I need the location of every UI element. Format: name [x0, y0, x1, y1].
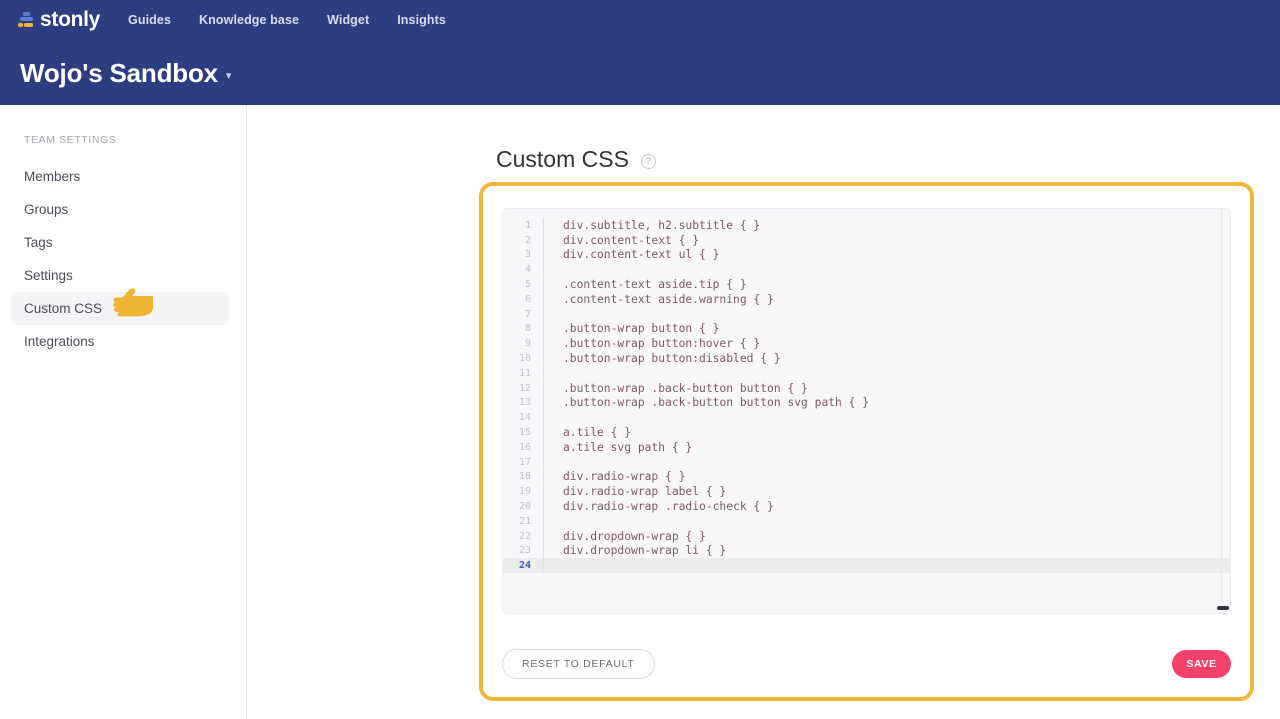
- stonly-logo-icon: [18, 12, 35, 29]
- code-line[interactable]: 2div.content-text { }: [503, 233, 1230, 248]
- page-title: Custom CSS: [496, 146, 629, 173]
- sidebar-item-members[interactable]: Members: [11, 160, 229, 193]
- code-line[interactable]: 19div.radio-wrap label { }: [503, 484, 1230, 499]
- line-number: 6: [503, 294, 543, 305]
- code-line[interactable]: 10.button-wrap button:disabled { }: [503, 351, 1230, 366]
- sidebar-item-custom-css[interactable]: Custom CSS: [11, 292, 229, 325]
- code-line[interactable]: 15a.tile { }: [503, 425, 1230, 440]
- save-button[interactable]: SAVE: [1172, 650, 1231, 678]
- code-line[interactable]: 4: [503, 262, 1230, 277]
- brand-name: stonly: [40, 8, 100, 32]
- line-number: 24: [503, 560, 543, 571]
- sidebar-item-settings[interactable]: Settings: [11, 259, 229, 292]
- line-number: 3: [503, 249, 543, 260]
- code-line-text: div.radio-wrap .radio-check { }: [544, 500, 774, 513]
- code-line[interactable]: 6.content-text aside.warning { }: [503, 292, 1230, 307]
- sidebar-item-label: Tags: [24, 235, 53, 250]
- nav-link-knowledge-base[interactable]: Knowledge base: [199, 13, 299, 27]
- sidebar-item-label: Integrations: [24, 334, 95, 349]
- line-number: 2: [503, 235, 543, 246]
- code-line[interactable]: 16a.tile svg path { }: [503, 440, 1230, 455]
- code-line-text: div.dropdown-wrap { }: [544, 530, 706, 543]
- code-lines-container: 1div.subtitle, h2.subtitle { }2div.conte…: [503, 209, 1230, 613]
- main-content: Custom CSS ? 1div.subtitle, h2.subtitle …: [247, 105, 1280, 719]
- code-line[interactable]: 22div.dropdown-wrap { }: [503, 529, 1230, 544]
- code-line[interactable]: 24: [503, 558, 1230, 573]
- sidebar-item-label: Settings: [24, 268, 73, 283]
- sidebar-item-label: Groups: [24, 202, 68, 217]
- editor-actions: RESET TO DEFAULT SAVE: [502, 649, 1231, 679]
- code-line[interactable]: 1div.subtitle, h2.subtitle { }: [503, 218, 1230, 233]
- gutter-divider: [543, 514, 544, 529]
- brand-logo[interactable]: stonly: [18, 8, 100, 32]
- code-line-text: div.content-text { }: [544, 234, 699, 247]
- nav-link-insights[interactable]: Insights: [397, 13, 446, 27]
- code-line-text: .button-wrap button:hover { }: [544, 337, 760, 350]
- code-line[interactable]: 3div.content-text ul { }: [503, 248, 1230, 263]
- top-header-bar: stonly Guides Knowledge base Widget Insi…: [0, 0, 1280, 105]
- line-number: 9: [503, 338, 543, 349]
- line-number: 23: [503, 545, 543, 556]
- nav-link-widget[interactable]: Widget: [327, 13, 369, 27]
- code-line[interactable]: 11: [503, 366, 1230, 381]
- code-line-text: .button-wrap button { }: [544, 322, 719, 335]
- sidebar-item-label: Custom CSS: [24, 301, 102, 316]
- sidebar-item-integrations[interactable]: Integrations: [11, 325, 229, 358]
- code-line[interactable]: 23div.dropdown-wrap li { }: [503, 544, 1230, 559]
- reset-to-default-button[interactable]: RESET TO DEFAULT: [502, 649, 655, 679]
- nav-link-guides[interactable]: Guides: [128, 13, 171, 27]
- code-line-text: .button-wrap .back-button button svg pat…: [544, 396, 869, 409]
- code-line[interactable]: 17: [503, 455, 1230, 470]
- code-line[interactable]: 21: [503, 514, 1230, 529]
- code-line[interactable]: 12.button-wrap .back-button button { }: [503, 381, 1230, 396]
- line-number: 14: [503, 412, 543, 423]
- sidebar-section-title: TEAM SETTINGS: [24, 134, 116, 146]
- code-line-text: div.subtitle, h2.subtitle { }: [544, 219, 760, 232]
- code-line-text: div.radio-wrap label { }: [544, 485, 726, 498]
- gutter-divider: [543, 366, 544, 381]
- gutter-divider: [543, 558, 544, 573]
- line-number: 5: [503, 279, 543, 290]
- gutter-divider: [543, 455, 544, 470]
- primary-nav: stonly Guides Knowledge base Widget Insi…: [0, 0, 1280, 40]
- gutter-divider: [543, 410, 544, 425]
- code-line[interactable]: 5.content-text aside.tip { }: [503, 277, 1230, 292]
- code-line-text: .button-wrap .back-button button { }: [544, 382, 808, 395]
- gutter-divider: [543, 307, 544, 322]
- line-number: 15: [503, 427, 543, 438]
- code-line-text: div.radio-wrap { }: [544, 470, 685, 483]
- line-number: 21: [503, 516, 543, 527]
- line-number: 7: [503, 309, 543, 320]
- code-line[interactable]: 14: [503, 410, 1230, 425]
- editor-scrollbar-thumb[interactable]: [1217, 606, 1229, 610]
- workspace-name: Wojo's Sandbox: [20, 58, 218, 89]
- line-number: 19: [503, 486, 543, 497]
- line-number: 17: [503, 457, 543, 468]
- line-number: 1: [503, 220, 543, 231]
- workspace-switcher[interactable]: Wojo's Sandbox ▾: [20, 58, 231, 89]
- code-line-text: div.dropdown-wrap li { }: [544, 544, 726, 557]
- line-number: 10: [503, 353, 543, 364]
- code-line-text: a.tile { }: [544, 426, 631, 439]
- page-title-row: Custom CSS ?: [496, 146, 656, 173]
- code-line[interactable]: 13.button-wrap .back-button button svg p…: [503, 396, 1230, 411]
- chevron-down-icon: ▾: [226, 69, 232, 82]
- line-number: 20: [503, 501, 543, 512]
- line-number: 22: [503, 531, 543, 542]
- line-number: 8: [503, 323, 543, 334]
- code-line-text: .content-text aside.warning { }: [544, 293, 774, 306]
- line-number: 11: [503, 368, 543, 379]
- code-line-text: .content-text aside.tip { }: [544, 278, 747, 291]
- code-line-text: a.tile svg path { }: [544, 441, 692, 454]
- line-number: 13: [503, 397, 543, 408]
- custom-css-card: 1div.subtitle, h2.subtitle { }2div.conte…: [479, 182, 1254, 701]
- line-number: 18: [503, 471, 543, 482]
- help-question-icon[interactable]: ?: [641, 154, 656, 169]
- code-line-text: div.content-text ul { }: [544, 248, 719, 261]
- gutter-divider: [543, 262, 544, 277]
- sidebar-item-groups[interactable]: Groups: [11, 193, 229, 226]
- code-line-text: .button-wrap button:disabled { }: [544, 352, 781, 365]
- sidebar-item-tags[interactable]: Tags: [11, 226, 229, 259]
- sidebar-item-label: Members: [24, 169, 80, 184]
- code-line[interactable]: 8.button-wrap button { }: [503, 322, 1230, 337]
- line-number: 12: [503, 383, 543, 394]
- sidebar: TEAM SETTINGS Members Groups Tags Settin…: [0, 105, 247, 719]
- line-number: 4: [503, 264, 543, 275]
- code-line[interactable]: 7: [503, 307, 1230, 322]
- css-code-editor[interactable]: 1div.subtitle, h2.subtitle { }2div.conte…: [502, 208, 1231, 614]
- code-line[interactable]: 20div.radio-wrap .radio-check { }: [503, 499, 1230, 514]
- code-line[interactable]: 18div.radio-wrap { }: [503, 470, 1230, 485]
- line-number: 16: [503, 442, 543, 453]
- sidebar-nav-list: Members Groups Tags Settings Custom CSS …: [11, 160, 229, 358]
- code-line[interactable]: 9.button-wrap button:hover { }: [503, 336, 1230, 351]
- editor-divider: [1221, 209, 1222, 613]
